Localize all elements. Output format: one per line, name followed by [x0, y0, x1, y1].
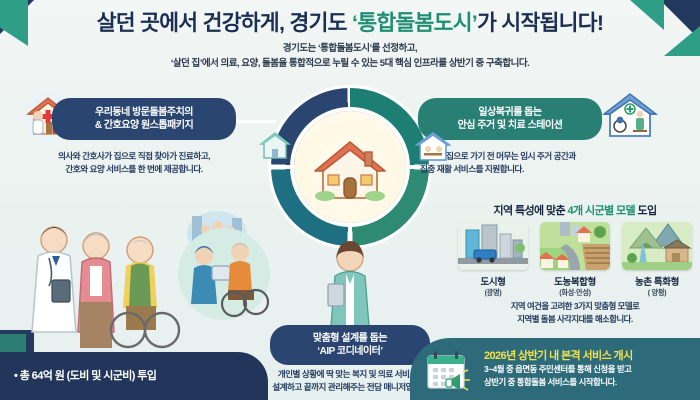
card3-pill-line-1: 맞춤형 설계를 돕는 [313, 332, 387, 346]
schedule-title: 2026년 상반기 내 본격 서비스 개시 [484, 347, 633, 363]
models-note: 지역 여건을 고려한 3가지 맞춤형 모델로 지역별 돌봄 사각지대를 해소합니… [452, 300, 698, 325]
card2-pill-line-1: 일상복귀를 돕는 [458, 106, 563, 120]
card3-pill-line-2: ‘AIP 코디네이터’ [313, 345, 387, 359]
infographic-poster: 살던 곳에서 건강하게, 경기도 ‘통합돌봄도시’가 시작됩니다! 경기도는 ‘… [0, 0, 700, 400]
card1-caption: 의사와 간호사가 집으로 직접 찾아가 진료하고, 간호와 요양 서비스를 한 … [24, 150, 244, 176]
card1-caption-line-2: 간호와 요양 서비스를 한 번에 제공합니다. [24, 163, 244, 176]
card1-caption-line-1: 의사와 간호사가 집으로 직접 찾아가 진료하고, [24, 150, 244, 163]
card1-pill-line-2: & 간호요양 원스톱패키지 [95, 119, 193, 133]
subtitle-line-2: ‘살던 집’에서 의료, 요양, 돌봄을 통합적으로 누릴 수 있는 5대 핵심… [0, 57, 700, 72]
central-diagram [271, 88, 429, 246]
small-house-right-icon [412, 130, 454, 164]
subtitle: 경기도는 ‘통합돌봄도시’를 선정하고, ‘살던 집’에서 의료, 요양, 돌봄… [0, 42, 700, 71]
models-section-title: 지역 특성에 맞춘 4개 시군별 모델 도입 [452, 202, 698, 218]
coordinator-person-icon [322, 240, 378, 326]
doctor-and-seniors-illustration [22, 218, 182, 350]
card-pill-aip-coordinator[interactable]: 맞춤형 설계를 돕는 ‘AIP 코디네이터’ [270, 325, 430, 365]
schedule-band: 2026년 상반기 내 본격 서비스 개시 3~4월 중 읍면동 주민센터를 통… [410, 338, 700, 400]
house-wheelchair-icon [600, 92, 660, 144]
model-name-rural: 농촌 특화형 [619, 274, 695, 288]
home-house-icon [311, 138, 389, 204]
headline-part-1: 살던 곳에서 건강하게, 경기도 [97, 11, 352, 35]
calendar-megaphone-icon [426, 350, 476, 392]
budget-band: • 총 64억 원 (도비 및 시군비) 투입 [0, 352, 268, 400]
suburban-farmland-icon [540, 222, 610, 270]
model-name-city: 도시형 [455, 274, 531, 288]
city-buildings-icon [458, 222, 528, 270]
schedule-body: 3~4월 중 읍면동 주민센터를 통해 신청을 받고 상반기 중 통합돌봄 서비… [484, 363, 631, 388]
subtitle-line-1: 경기도는 ‘통합돌봄도시’를 선정하고, [0, 42, 700, 57]
model-item-suburban[interactable]: 도농복합형 (화성·안성) [537, 222, 613, 298]
models-title-accent: 4개 시군별 모델 [567, 205, 635, 217]
model-name-suburban: 도농복합형 [537, 274, 613, 288]
connector-left [236, 120, 276, 123]
nurse-tablet-bubble-illustration [176, 226, 272, 322]
card1-pill-line-1: 우리동네 방문돌봄주치의 [95, 106, 193, 120]
models-note-line-2: 지역별 돌봄 사각지대를 해소합니다. [452, 313, 698, 326]
budget-text: • 총 64억 원 (도비 및 시군비) 투입 [14, 367, 156, 383]
headline-part-2: 가 시작됩니다! [477, 11, 603, 35]
models-title-suffix: 도입 [635, 205, 657, 217]
card-pill-home-visit-care[interactable]: 우리동네 방문돌봄주치의 & 간호요양 원스톱패키지 [52, 98, 236, 140]
ring-center [294, 111, 406, 223]
card2-pill-line-2: 안심 주거 및 치료 스테이션 [458, 119, 563, 133]
rural-mountain-icon [622, 222, 692, 270]
models-note-line-1: 지역 여건을 고려한 3가지 맞춤형 모델로 [452, 300, 698, 313]
schedule-line-2: 상반기 중 통합돌봄 서비스를 시작합니다. [484, 376, 631, 389]
model-item-rural[interactable]: 농촌 특화형 ( 양평) [619, 222, 695, 298]
models-title-prefix: 지역 특성에 맞춘 [493, 205, 567, 217]
card2-caption-line-2: 집중 재활 서비스를 지원합니다. [420, 163, 620, 176]
small-house-left-icon [258, 130, 292, 162]
model-location-suburban: (화성·안성) [537, 288, 613, 298]
model-item-city[interactable]: 도시형 (광명) [455, 222, 531, 298]
headline-accent: ‘통합돌봄도시’ [352, 11, 477, 35]
page-title: 살던 곳에서 건강하게, 경기도 ‘통합돌봄도시’가 시작됩니다! [0, 6, 700, 37]
schedule-line-1: 3~4월 중 읍면동 주민센터를 통해 신청을 받고 [484, 363, 631, 376]
model-location-city: (광명) [455, 288, 531, 298]
model-location-rural: ( 양평) [619, 288, 695, 298]
models-list: 도시형 (광명) 도농복합형 (화성 [452, 222, 698, 298]
